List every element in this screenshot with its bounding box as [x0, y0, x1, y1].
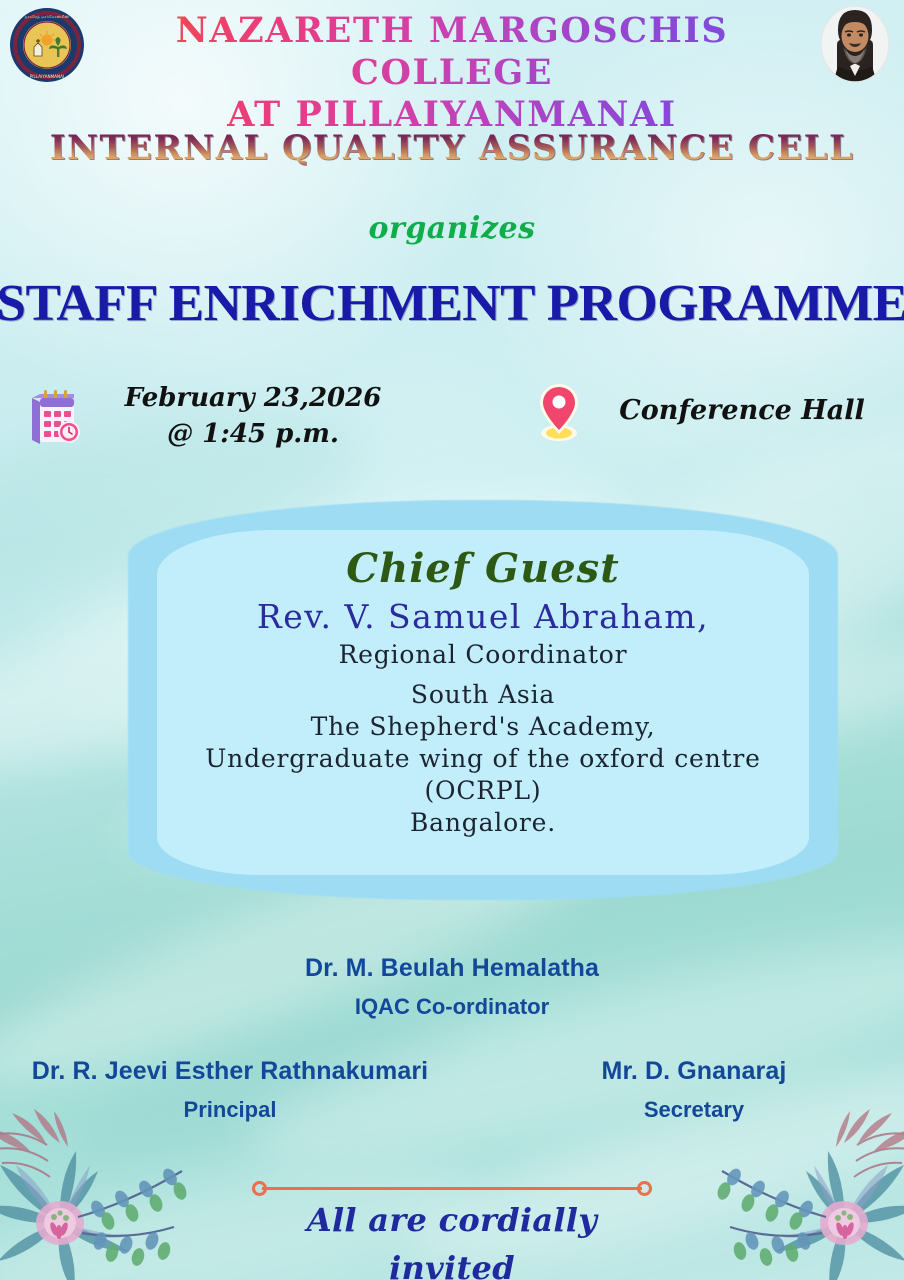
chief-guest-detail-line: Bangalore. [173, 807, 793, 839]
college-name-line1: NAZARETH MARGOSCHIS COLLEGE [176, 10, 729, 93]
divider-top [252, 1180, 652, 1196]
chief-guest-label: Chief Guest [173, 544, 793, 594]
svg-text:நாசரேத் மார்கோஸ்கிஸ்: நாசரேத் மார்கோஸ்கிஸ் [25, 14, 70, 19]
invitation-poster: நாசரேத் மார்கோஸ்கிஸ் PILLAIYANMANAI [0, 0, 904, 1280]
event-date: February 23,2026 [125, 383, 382, 413]
chief-guest-detail-line: (OCRPL) [173, 775, 793, 807]
divider-dot-icon [637, 1181, 652, 1196]
organizes-label: organizes [0, 211, 904, 246]
date-block: February 23,2026 @ 1:45 p.m. [24, 378, 424, 452]
secretary-name: Mr. D. Gnanaraj [484, 1055, 904, 1088]
floral-ornament-icon [662, 1105, 904, 1280]
calendar-icon [24, 384, 82, 446]
page-title: NAZARETH MARGOSCHIS COLLEGE AT PILLAIYAN… [96, 10, 808, 136]
chief-guest-details: Regional Coordinator South Asia The Shep… [173, 639, 793, 839]
invitation-text: All are cordially invited [252, 1196, 652, 1280]
founder-portrait-icon [816, 4, 894, 84]
invitation-block: All are cordially invited [252, 1180, 652, 1280]
coordinator-role: IQAC Co-ordinator [0, 991, 904, 1023]
signatory-secretary: Mr. D. Gnanaraj Secretary [484, 1055, 904, 1126]
chief-guest-designation: Regional Coordinator [173, 639, 793, 671]
location-pin-icon [530, 378, 588, 442]
venue-block: Conference Hall [530, 378, 890, 442]
college-seal-icon: நாசரேத் மார்கோஸ்கிஸ் PILLAIYANMANAI [8, 6, 86, 84]
signatory-coordinator: Dr. M. Beulah Hemalatha IQAC Co-ordinato… [0, 952, 904, 1023]
floral-ornament-icon [0, 1105, 242, 1280]
chief-guest-detail-line: The Shepherd's Academy, [173, 711, 793, 743]
chief-guest-detail-line: Undergraduate wing of the oxford centre [173, 743, 793, 775]
event-venue: Conference Hall [594, 395, 890, 426]
coordinator-name: Dr. M. Beulah Hemalatha [0, 952, 904, 985]
background-streak [237, 900, 904, 1200]
secretary-role: Secretary [484, 1094, 904, 1126]
event-title: STAFF ENRICHMENT PROGRAMME [0, 275, 904, 333]
chief-guest-panel: Chief Guest Rev. V. Samuel Abraham, Regi… [157, 530, 809, 875]
principal-name: Dr. R. Jeevi Esther Rathnakumari [0, 1055, 460, 1088]
svg-text:PILLAIYANMANAI: PILLAIYANMANAI [30, 74, 65, 79]
event-time: @ 1:45 p.m. [82, 416, 424, 452]
divider-bar [262, 1187, 642, 1190]
chief-guest-detail-line: South Asia [173, 679, 793, 711]
cell-name: INTERNAL QUALITY ASSURANCE CELL [0, 128, 904, 168]
chief-guest-name: Rev. V. Samuel Abraham, [173, 598, 793, 636]
principal-role: Principal [0, 1094, 460, 1126]
signatory-principal: Dr. R. Jeevi Esther Rathnakumari Princip… [0, 1055, 460, 1126]
